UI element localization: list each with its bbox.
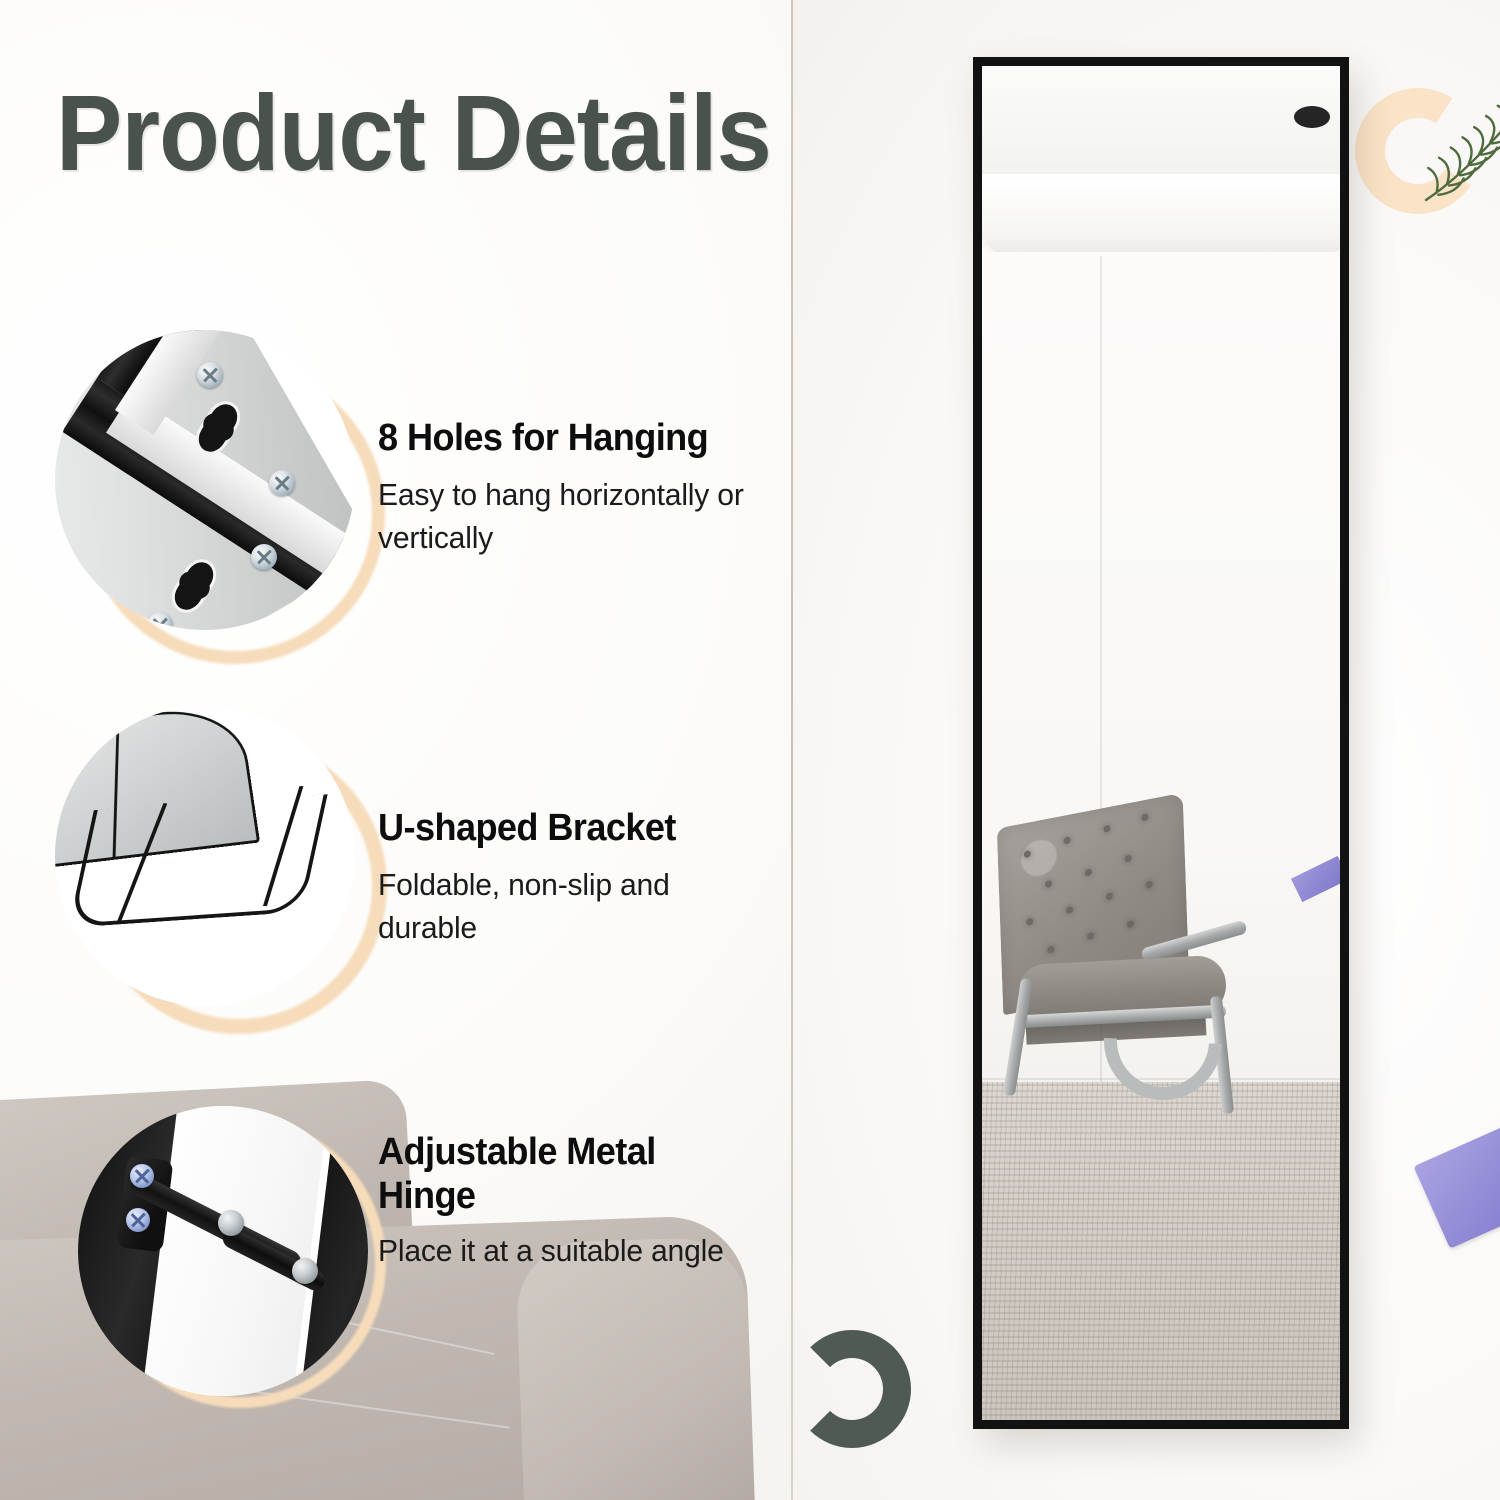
circle-photo-frame-corner bbox=[55, 330, 355, 630]
bracket-leg bbox=[117, 803, 168, 923]
rivet-icon bbox=[218, 1210, 244, 1236]
screw-icon bbox=[126, 1208, 150, 1232]
reflected-woven-rug bbox=[982, 1082, 1340, 1420]
reflected-ceiling-fixture bbox=[1294, 106, 1330, 128]
feature-heading: 8 Holes for Hanging bbox=[378, 416, 758, 460]
feature-block-holes-for-hanging: 8 Holes for Hanging Easy to hang horizon… bbox=[0, 330, 792, 680]
green-half-ring-icon bbox=[793, 1330, 911, 1448]
screw-icon bbox=[130, 1164, 154, 1188]
feature-text-adjustable-metal-hinge: Adjustable Metal Hinge Place it at a sui… bbox=[378, 1130, 778, 1273]
mirror-reflection bbox=[982, 66, 1340, 1420]
screw-icon bbox=[269, 470, 295, 496]
floor-mirror-product-image bbox=[973, 57, 1349, 1429]
feature-block-u-shaped-bracket: U-shaped Bracket Foldable, non-slip and … bbox=[0, 706, 792, 1056]
feature-image-u-shaped-bracket bbox=[55, 706, 355, 1006]
feature-text-holes-for-hanging: 8 Holes for Hanging Easy to hang horizon… bbox=[378, 416, 778, 560]
circle-photo-metal-hinge bbox=[78, 1106, 368, 1396]
reflected-rocking-chair bbox=[994, 810, 1294, 1130]
rivet-icon bbox=[292, 1258, 318, 1284]
product-details-infographic: Product Details 8 Holes for Hanging Easy… bbox=[0, 0, 1500, 1500]
screw-icon bbox=[197, 362, 223, 388]
feature-image-holes-for-hanging bbox=[55, 330, 355, 630]
feature-body: Foldable, non-slip and durable bbox=[378, 864, 766, 950]
u-bracket-wire bbox=[68, 794, 328, 928]
feature-body: Easy to hang horizontally or vertically bbox=[378, 474, 766, 560]
fern-frond-icon bbox=[1422, 76, 1500, 214]
feature-body: Place it at a suitable angle bbox=[378, 1230, 766, 1273]
feature-heading: U-shaped Bracket bbox=[378, 806, 758, 850]
page-title: Product Details bbox=[56, 78, 771, 188]
circle-photo-u-bracket bbox=[55, 706, 355, 1006]
feature-block-adjustable-metal-hinge: Adjustable Metal Hinge Place it at a sui… bbox=[0, 1078, 792, 1458]
feature-image-adjustable-metal-hinge bbox=[78, 1106, 368, 1396]
screw-icon bbox=[251, 544, 277, 570]
bracket-leg bbox=[263, 786, 303, 906]
feature-heading: Adjustable Metal Hinge bbox=[378, 1130, 758, 1218]
feature-text-u-shaped-bracket: U-shaped Bracket Foldable, non-slip and … bbox=[378, 806, 778, 950]
reflected-ceiling-cove bbox=[982, 174, 1340, 260]
